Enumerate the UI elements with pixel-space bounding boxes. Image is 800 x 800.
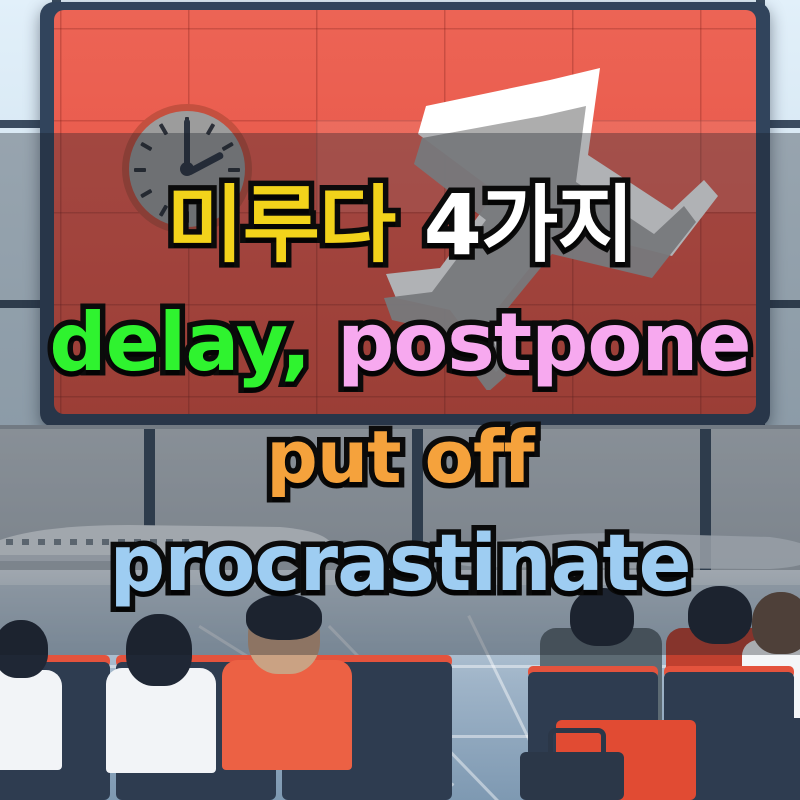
passenger-body xyxy=(0,670,62,770)
korean-count-label: 4가지 xyxy=(424,176,634,274)
clock-tick xyxy=(228,168,240,172)
korean-headword: 미루다 xyxy=(166,176,395,274)
clock-tick xyxy=(134,168,146,172)
english-word-postpone: postpone xyxy=(337,296,751,389)
passenger-head xyxy=(0,620,48,678)
passenger-head xyxy=(126,614,192,686)
caption-line-3: put off xyxy=(0,421,800,493)
caption-line-2: delay, postpone xyxy=(0,303,800,383)
clock-tick xyxy=(140,142,152,151)
clock-tick xyxy=(159,123,168,135)
english-word-procrastinate: procrastinate xyxy=(109,519,690,609)
caption-separator: , xyxy=(281,296,310,389)
caption-line-4: procrastinate xyxy=(0,525,800,603)
passenger-body xyxy=(222,660,352,770)
english-word-delay: delay xyxy=(49,296,280,389)
clock-tick xyxy=(222,142,234,151)
clock-center-hub xyxy=(180,162,194,176)
caption-line-1: 미루다 4가지 xyxy=(0,183,800,267)
clock-tick xyxy=(206,123,215,135)
english-word-put-off: put off xyxy=(266,415,533,499)
seat-front-dark xyxy=(700,718,800,800)
thumbnail-image: 미루다 4가지 delay, postpone put off procrast… xyxy=(0,0,800,800)
rolling-suitcase xyxy=(520,752,624,800)
